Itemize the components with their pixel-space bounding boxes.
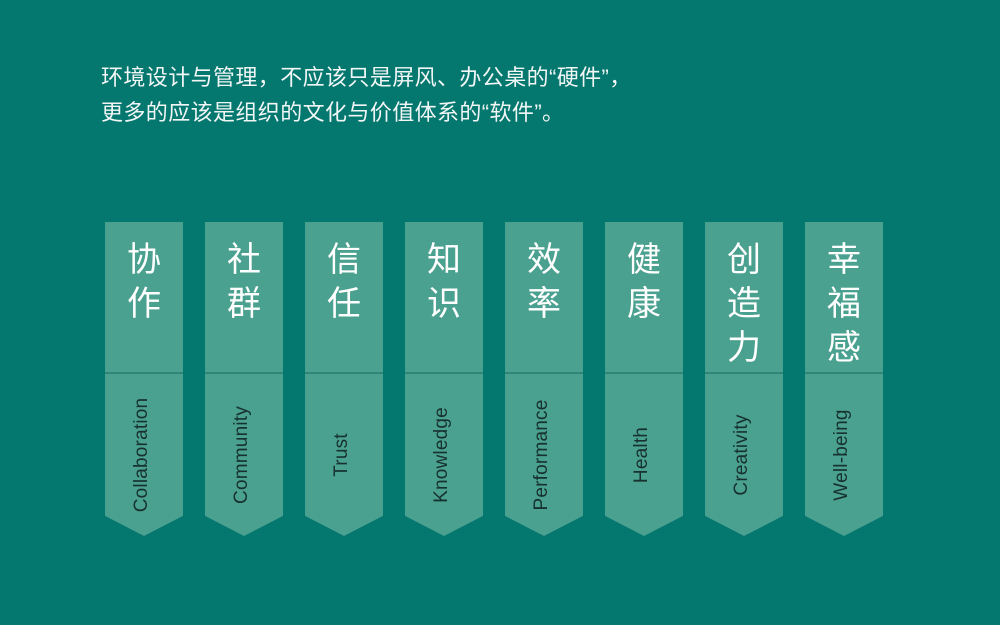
banner-en-label: Creativity <box>731 414 753 495</box>
banner-cn-label: 创造力 <box>724 238 764 370</box>
banner-row: 协作 Collaboration 社群 Community 信任 Trust <box>105 222 915 536</box>
banner-bottom-trust: Trust <box>305 374 383 536</box>
banner-cn-label: 社群 <box>224 238 264 326</box>
banner-top-community: 社群 <box>205 222 283 372</box>
banner-cn-label: 幸福感 <box>824 238 864 370</box>
banner-en-label: Performance <box>531 400 553 511</box>
banner-card-performance[interactable]: 效率 Performance <box>505 222 583 536</box>
banner-top-knowledge: 知识 <box>405 222 483 372</box>
banner-top-performance: 效率 <box>505 222 583 372</box>
banner-top-wellbeing: 幸福感 <box>805 222 883 372</box>
banner-en-label: Knowledge <box>431 407 453 503</box>
banner-bottom-health: Health <box>605 374 683 536</box>
banner-cn-label: 效率 <box>524 238 564 326</box>
banner-card-creativity[interactable]: 创造力 Creativity <box>705 222 783 536</box>
headline-text: 环境设计与管理，不应该只是屏风、办公桌的“硬件”， 更多的应该是组织的文化与价值… <box>101 60 861 130</box>
banner-bottom-wellbeing: Well-being <box>805 374 883 536</box>
banner-en-label: Collaboration <box>131 398 153 513</box>
banner-en-label: Health <box>631 427 653 483</box>
banner-bottom-community: Community <box>205 374 283 536</box>
banner-bottom-creativity: Creativity <box>705 374 783 536</box>
banner-cn-label: 协作 <box>124 238 164 326</box>
banner-en-label: Community <box>231 406 253 504</box>
banner-top-creativity: 创造力 <box>705 222 783 372</box>
banner-en-label: Well-being <box>831 409 853 500</box>
banner-card-collaboration[interactable]: 协作 Collaboration <box>105 222 183 536</box>
banner-top-trust: 信任 <box>305 222 383 372</box>
banner-en-label: Trust <box>331 433 353 477</box>
banner-bottom-collaboration: Collaboration <box>105 374 183 536</box>
banner-cn-label: 健康 <box>624 238 664 326</box>
banner-top-health: 健康 <box>605 222 683 372</box>
banner-card-community[interactable]: 社群 Community <box>205 222 283 536</box>
banner-card-knowledge[interactable]: 知识 Knowledge <box>405 222 483 536</box>
banner-cn-label: 知识 <box>424 238 464 326</box>
banner-card-wellbeing[interactable]: 幸福感 Well-being <box>805 222 883 536</box>
banner-bottom-knowledge: Knowledge <box>405 374 483 536</box>
banner-card-trust[interactable]: 信任 Trust <box>305 222 383 536</box>
banner-cn-label: 信任 <box>324 238 364 326</box>
slide-canvas: 环境设计与管理，不应该只是屏风、办公桌的“硬件”， 更多的应该是组织的文化与价值… <box>0 0 1000 625</box>
banner-top-collaboration: 协作 <box>105 222 183 372</box>
banner-card-health[interactable]: 健康 Health <box>605 222 683 536</box>
banner-bottom-performance: Performance <box>505 374 583 536</box>
